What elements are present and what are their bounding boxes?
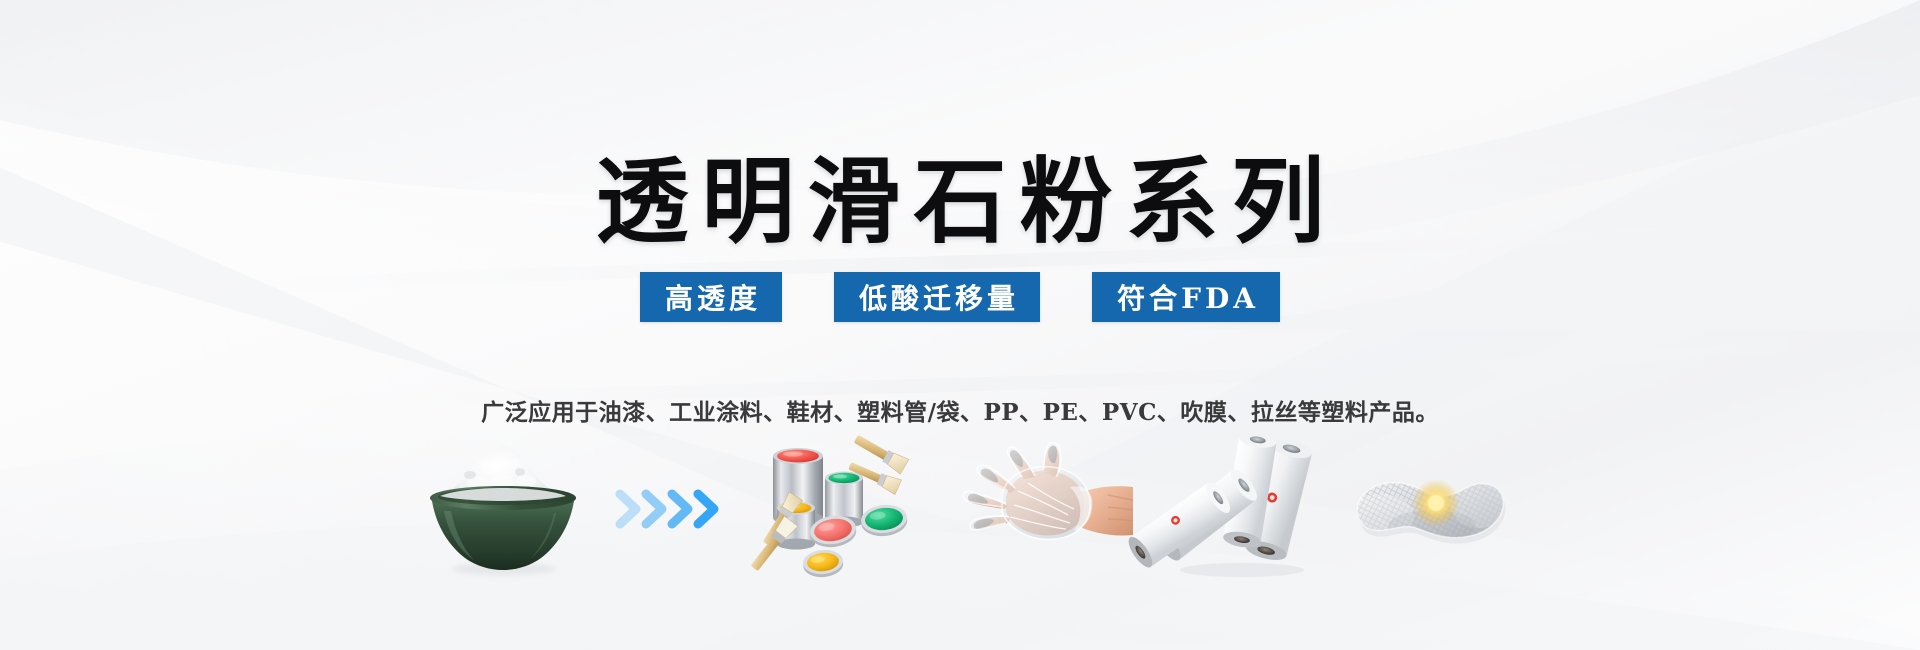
product-application-strip <box>0 434 1920 584</box>
page-title: 透明滑石粉系列 <box>0 150 1920 254</box>
plastic-film-rolls-image <box>1143 434 1333 584</box>
plastic-glove-hand-image <box>948 434 1143 584</box>
application-subtitle: 广泛应用于油漆、工业涂料、鞋材、塑料管/袋、PP、PE、PVC、吹膜、拉丝等塑料… <box>0 393 1920 427</box>
paint-cans-image <box>748 434 948 584</box>
paint-lid-yellow <box>802 548 844 578</box>
feature-badge-list: 高透度 低酸迁移量 符合FDA <box>0 272 1920 322</box>
paint-lid-green <box>860 503 909 539</box>
shoe-sole-icon <box>1340 444 1510 574</box>
product-banner: 透明滑石粉系列 高透度 低酸迁移量 符合FDA 广泛应用于油漆、工业涂料、鞋材、… <box>0 0 1920 650</box>
talc-powder-bowl-icon <box>408 439 598 579</box>
film-rolls-icon <box>1150 437 1325 582</box>
process-arrows <box>603 434 748 584</box>
paint-cans-icon <box>755 434 940 584</box>
chevron-right-arrows-icon <box>614 484 736 534</box>
badge-fda-compliant[interactable]: 符合FDA <box>1092 272 1280 322</box>
badge-high-transparency[interactable]: 高透度 <box>640 272 782 322</box>
gloved-hand-icon <box>958 439 1133 579</box>
talc-powder-bowl-image <box>403 434 603 584</box>
shoe-sole-image <box>1333 434 1518 584</box>
badge-low-acid-migration[interactable]: 低酸迁移量 <box>834 272 1040 322</box>
